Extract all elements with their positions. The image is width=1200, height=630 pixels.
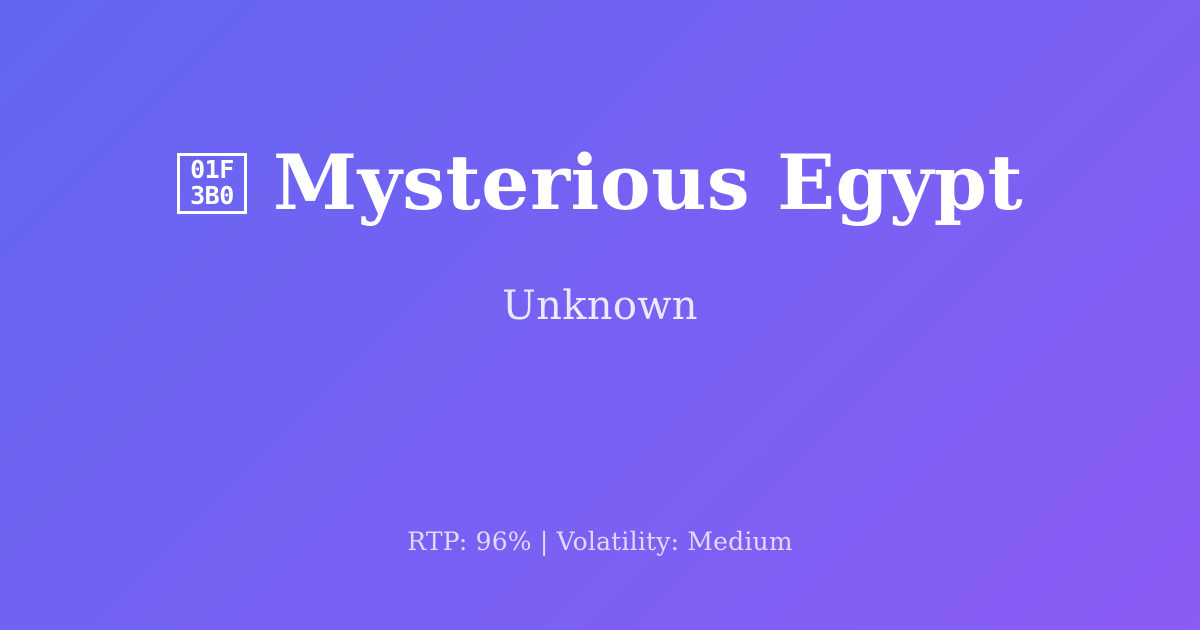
title-row: 01F 3B0 Mysterious Egypt (177, 140, 1023, 226)
card-center-block: 01F 3B0 Mysterious Egypt Unknown (0, 0, 1200, 470)
card-footer: RTP: 96% | Volatility: Medium (0, 527, 1200, 557)
game-preview-card: 01F 3B0 Mysterious Egypt Unknown RTP: 96… (0, 0, 1200, 630)
game-stats-line: RTP: 96% | Volatility: Medium (407, 527, 793, 556)
page-title: Mysterious Egypt (273, 140, 1023, 226)
slot-machine-icon-codepoint-top: 01F (190, 157, 234, 183)
slot-machine-icon-codepoint-bottom: 3B0 (190, 183, 234, 209)
slot-machine-icon: 01F 3B0 (177, 153, 247, 214)
provider-name: Unknown (502, 282, 698, 330)
